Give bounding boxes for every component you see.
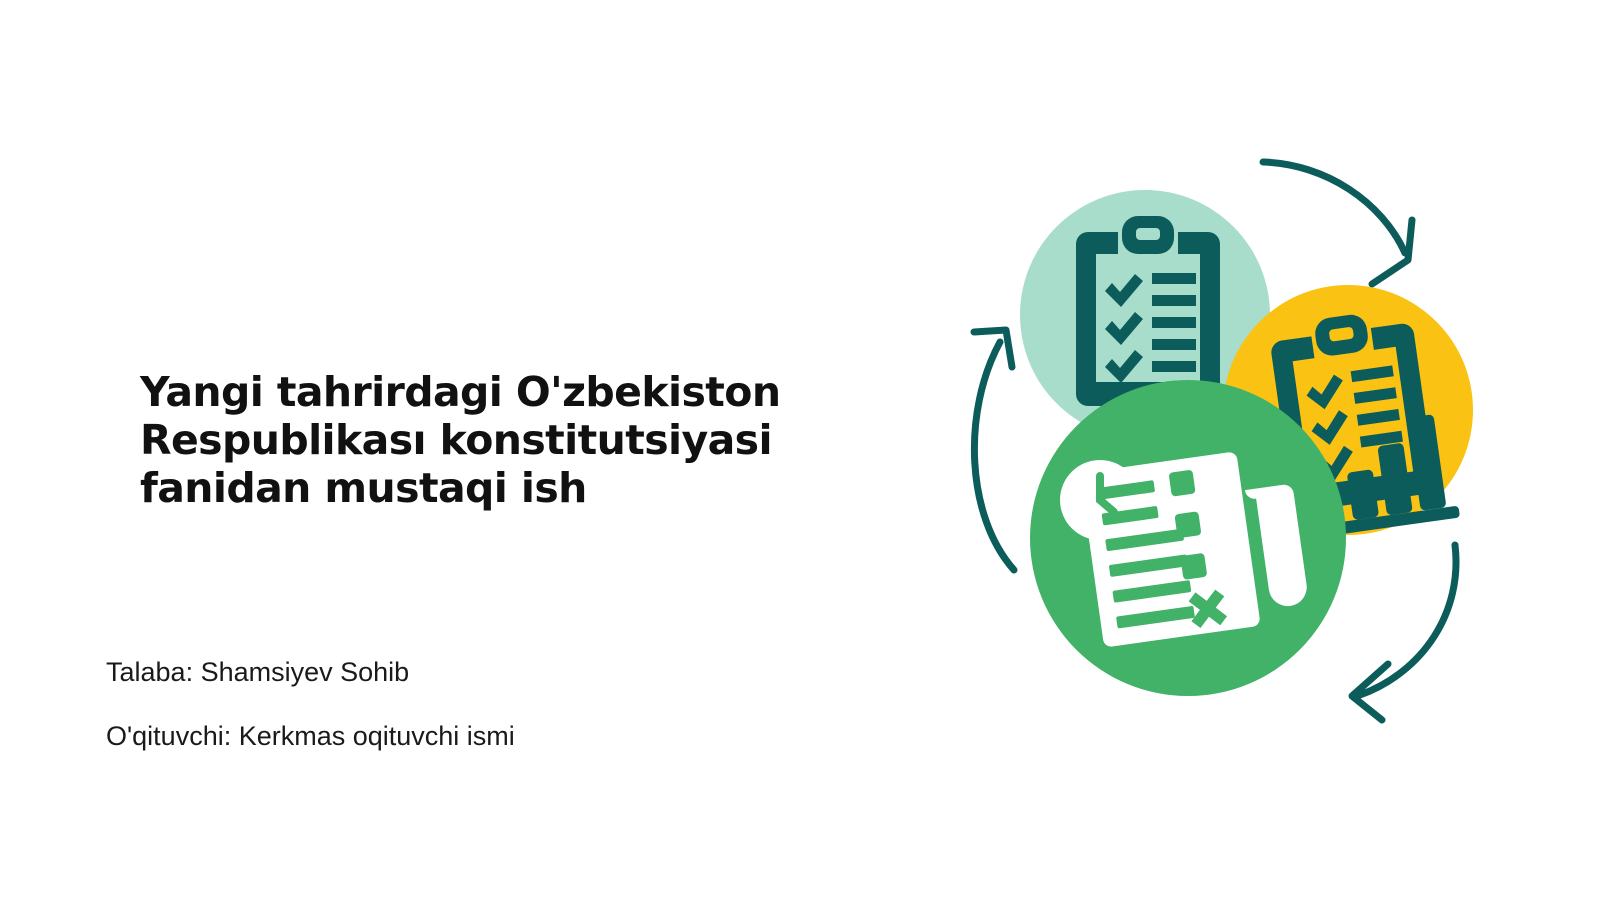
green-circle xyxy=(1030,380,1346,696)
title-slide: Yangi tahrirdagi O'zbekiston Respublikas… xyxy=(0,0,1600,900)
assessment-cycle-graphic xyxy=(930,120,1530,740)
page-title: Yangi tahrirdagi O'zbekiston Respublikas… xyxy=(140,368,840,512)
title-block: Yangi tahrirdagi O'zbekiston Respublikas… xyxy=(140,368,840,512)
arrow-top-icon xyxy=(1263,162,1412,284)
subtitle-block: Talaba: Shamsiyev Sohib O'qituvchi: Kerk… xyxy=(106,655,866,753)
student-line: Talaba: Shamsiyev Sohib xyxy=(106,655,866,689)
teacher-line: O'qituvchi: Kerkmas oqituvchi ismi xyxy=(106,719,866,753)
arrow-bottom-right-icon xyxy=(1352,545,1456,720)
arrow-left-icon xyxy=(974,330,1014,570)
